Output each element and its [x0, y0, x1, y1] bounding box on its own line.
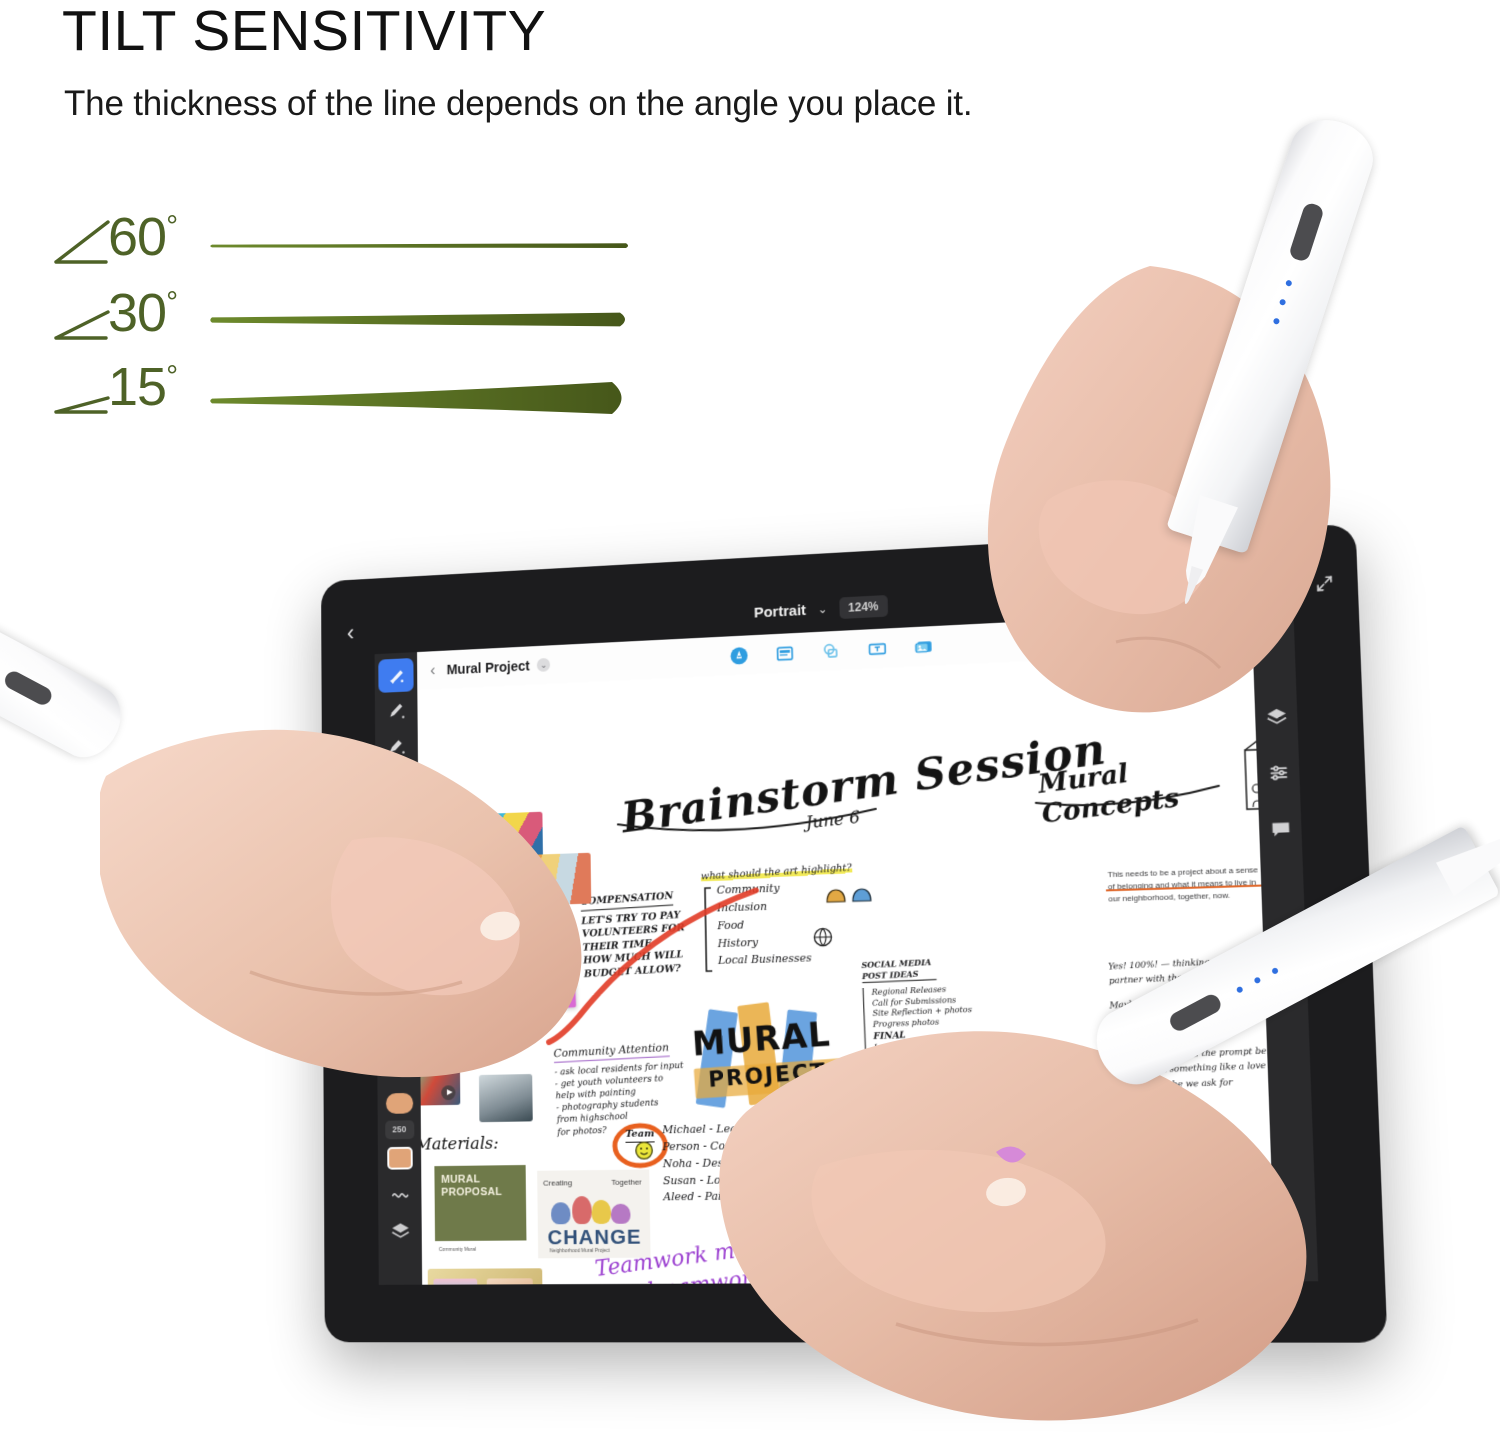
rail-tool-layers2[interactable] [382, 1214, 418, 1249]
orientation-label: Portrait [754, 602, 806, 621]
stylus-body [0, 506, 133, 769]
comment-icon[interactable] [1269, 818, 1292, 840]
poster-headline: CHANGE [547, 1226, 641, 1251]
sticky-note-icon[interactable] [774, 642, 795, 664]
rail-tool-wave[interactable] [382, 1177, 418, 1212]
angle-30-label: 30° [108, 286, 177, 340]
poster-kicker-right: Together [611, 1178, 641, 1187]
angle-60-label: 60° [108, 210, 177, 264]
angle-15-icon [50, 368, 112, 424]
mural-proposal-title: MURAL PROPOSAL [434, 1165, 526, 1199]
stroke-sample-15 [208, 374, 633, 427]
stylus-left [0, 506, 133, 769]
canvas-tool-group [728, 635, 934, 666]
angle-60-icon [50, 218, 112, 274]
product-feature-image: TILT SENSITIVITY The thickness of the li… [0, 0, 1500, 1454]
note-heading: SOCIAL MEDIA POST IDEAS [861, 957, 936, 983]
text-box-icon[interactable] [866, 638, 887, 660]
layers-icon [390, 1221, 410, 1242]
angle-30-icon [50, 294, 112, 350]
page-title: TILT SENSITIVITY [62, 2, 546, 62]
secondary-color-swatch[interactable] [387, 1147, 413, 1170]
shapes-icon[interactable] [820, 640, 841, 662]
hand-left [100, 640, 660, 1140]
pen-tool-icon[interactable] [728, 645, 749, 666]
orientation-control[interactable]: Portrait ⌄ 124% [754, 595, 888, 623]
stroke-sample-30 [208, 308, 633, 341]
wave-icon [390, 1184, 410, 1205]
fist-doodle-icon [823, 879, 879, 909]
smiley-doodle-icon [633, 1139, 655, 1161]
zoom-level-badge[interactable]: 124% [839, 595, 888, 619]
change-poster[interactable]: Creating Together CHANGE Neighborhood Mu… [537, 1169, 650, 1258]
globe-doodle-icon [812, 926, 834, 949]
stroke-sample-60 [208, 236, 633, 261]
image-icon[interactable] [913, 635, 934, 657]
angle-15-label: 15° [108, 360, 177, 414]
mural-proposal-caption: Community Mural [439, 1247, 476, 1253]
poster-kicker-left: Creating [543, 1178, 572, 1187]
moodboard-thumb[interactable] [428, 1268, 543, 1285]
poster-subline: Neighborhood Mural Project [550, 1248, 610, 1254]
mural-proposal-card[interactable]: MURAL PROPOSAL [434, 1165, 526, 1241]
page-subtitle: The thickness of the line depends on the… [64, 84, 972, 124]
hand-bottom-right [700, 980, 1320, 1450]
chevron-down-icon[interactable]: ⌄ [818, 602, 828, 616]
